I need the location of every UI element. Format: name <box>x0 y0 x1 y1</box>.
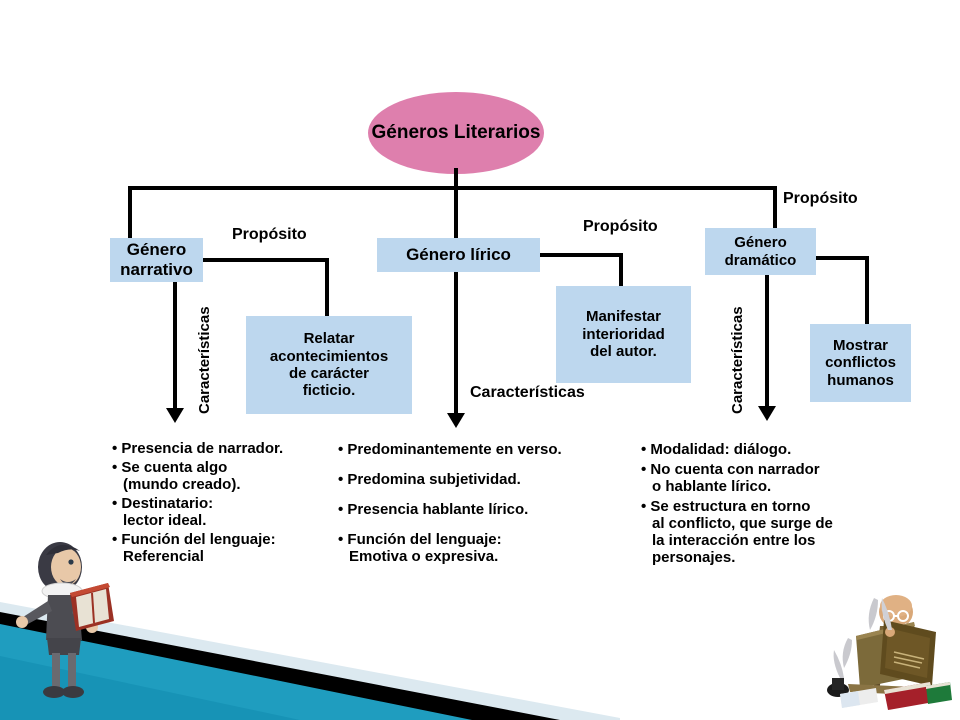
purpose-box-narrativo[interactable]: Relatar acontecimientos de carácter fict… <box>246 316 412 414</box>
purpose-box-lirico[interactable]: Manifestar interioridad del autor. <box>556 286 691 383</box>
root-node-label: Géneros Literarios <box>372 122 541 144</box>
connector-label-caracteristicas-narrativo: Características <box>196 306 213 414</box>
connector-drop-dramatico <box>773 186 777 230</box>
connector-caracteristicas-dramatico-arrow <box>758 406 776 421</box>
genre-box-lirico-label: Género lírico <box>406 245 511 265</box>
connector-label-caracteristicas-lirico: Características <box>470 384 585 402</box>
list-item: • Destinatario: lector ideal. <box>112 495 342 529</box>
purpose-box-narrativo-label: Relatar acontecimientos de carácter fict… <box>270 330 388 400</box>
genre-box-dramatico-label: Género dramático <box>725 234 797 269</box>
features-list-lirico: • Predominantemente en verso. • Predomin… <box>338 441 638 578</box>
purpose-box-lirico-label: Manifestar interioridad del autor. <box>582 308 665 360</box>
connector-caracteristicas-dramatico-line <box>765 275 769 408</box>
connector-proposito-lirico-v <box>619 253 623 288</box>
connector-drop-narrativo <box>128 186 132 242</box>
genre-box-narrativo-label: Género narrativo <box>120 240 193 279</box>
connector-proposito-dramatico-v <box>865 256 869 326</box>
diagram-canvas: Géneros Literarios Género narrativo Prop… <box>0 0 960 720</box>
connector-horizontal-bar <box>128 186 777 190</box>
connector-drop-lirico <box>454 186 458 238</box>
list-item: • Se cuenta algo (mundo creado). <box>112 459 342 493</box>
genre-box-dramatico[interactable]: Género dramático <box>705 228 816 275</box>
connector-proposito-dramatico-h <box>816 256 869 260</box>
purpose-box-dramatico[interactable]: Mostrar conflictos humanos <box>810 324 911 402</box>
genre-box-narrativo[interactable]: Género narrativo <box>110 238 203 282</box>
connector-proposito-lirico-h <box>540 253 623 257</box>
list-item: • Predominantemente en verso. <box>338 441 638 458</box>
list-item: • Predomina subjetividad. <box>338 471 638 488</box>
list-item: • Modalidad: diálogo. <box>641 441 906 458</box>
bottom-left-diagonal-banner <box>0 560 620 720</box>
connector-caracteristicas-lirico-line <box>454 272 458 415</box>
connector-proposito-narrativo-v <box>325 258 329 318</box>
scribe-writing-at-lectern-clipart <box>818 590 953 710</box>
connector-proposito-narrativo-h <box>203 258 329 262</box>
connector-caracteristicas-lirico-arrow <box>447 413 465 428</box>
list-item: • Presencia de narrador. <box>112 440 342 457</box>
purpose-box-dramatico-label: Mostrar conflictos humanos <box>825 337 896 389</box>
connector-caracteristicas-narrativo-line <box>173 282 177 410</box>
list-item: • Presencia hablante lírico. <box>338 501 638 518</box>
list-item: • No cuenta con narrador o hablante líri… <box>641 461 906 495</box>
connector-caracteristicas-narrativo-arrow <box>166 408 184 423</box>
features-list-dramatico: • Modalidad: diálogo. • No cuenta con na… <box>641 441 906 569</box>
features-list-narrativo: • Presencia de narrador. • Se cuenta alg… <box>112 440 342 567</box>
connector-label-proposito-narrativo: Propósito <box>232 226 307 244</box>
connector-label-caracteristicas-dramatico: Características <box>729 306 746 414</box>
root-node-generos-literarios[interactable]: Géneros Literarios <box>368 92 544 174</box>
list-item: • Se estructura en torno al conflicto, q… <box>641 498 906 566</box>
genre-box-lirico[interactable]: Género lírico <box>377 238 540 272</box>
connector-label-proposito-dramatico: Propósito <box>783 190 858 208</box>
connector-label-proposito-lirico: Propósito <box>583 218 658 236</box>
